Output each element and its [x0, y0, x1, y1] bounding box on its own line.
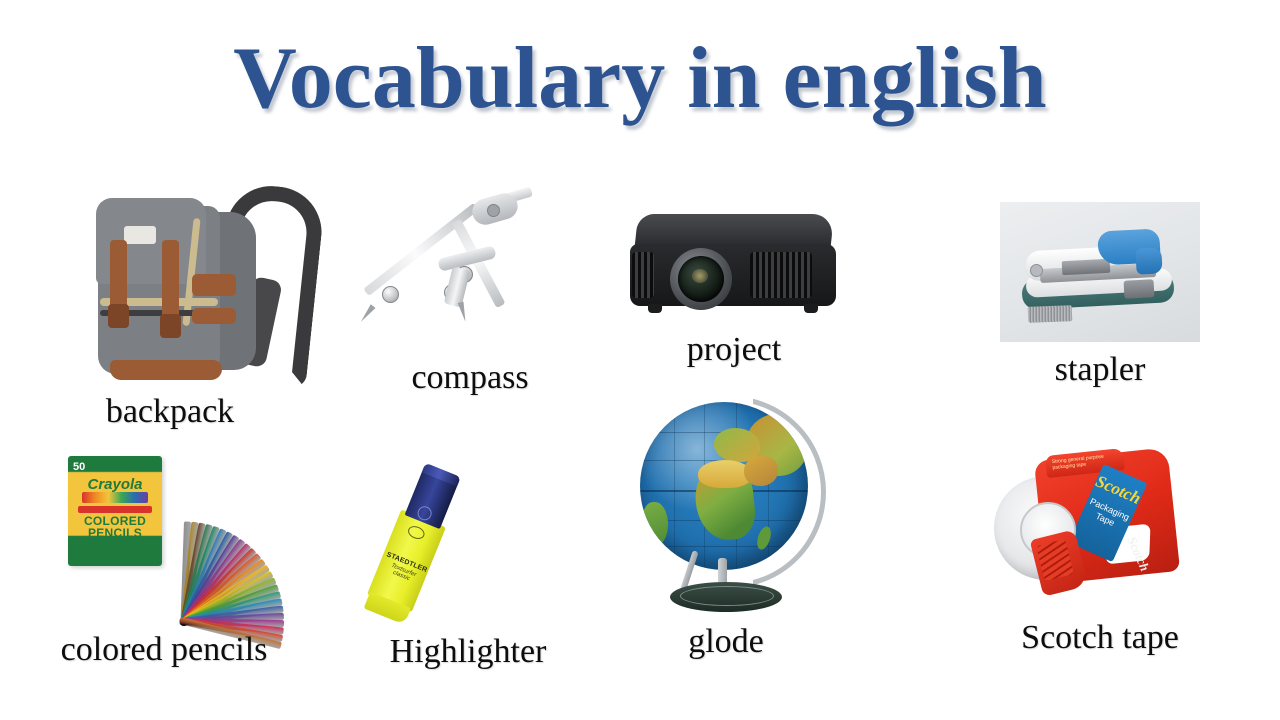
vocab-card-highlighter[interactable]: STAEDTLER Textsurfer classic Highlighter: [378, 462, 578, 682]
stapler-icon: [1000, 202, 1200, 342]
vocab-card-colored-pencils[interactable]: 50 Crayola COLORED PENCILS 50 colored pe…: [62, 452, 312, 682]
pencil-box: 50 Crayola COLORED PENCILS 50: [68, 456, 162, 566]
vocab-card-globe[interactable]: glode: [626, 400, 846, 680]
vocab-card-stapler[interactable]: stapler: [1000, 202, 1210, 397]
projector-icon: [622, 214, 847, 326]
tape-dispenser-icon: Strong general purpose packaging tape Sc…: [988, 442, 1193, 607]
highlighter-icon: STAEDTLER Textsurfer classic: [378, 462, 508, 622]
vocab-label-stapler: stapler: [1010, 350, 1190, 390]
vocab-label-scotch-tape: Scotch tape: [990, 618, 1210, 658]
colored-pencils-icon: 50 Crayola COLORED PENCILS 50: [62, 452, 292, 637]
globe-icon: [626, 400, 826, 615]
vocabulary-poster: Vocabulary in english backpack: [0, 0, 1280, 720]
vocab-label-backpack: backpack: [70, 392, 270, 432]
vocab-label-globe: glode: [636, 622, 816, 662]
compass-icon: [360, 190, 530, 340]
vocab-card-project[interactable]: project: [622, 214, 852, 389]
vocab-label-project: project: [644, 330, 824, 370]
vocab-card-backpack[interactable]: backpack: [88, 178, 328, 433]
vocab-card-compass[interactable]: compass: [360, 190, 570, 400]
vocab-label-colored-pencils: colored pencils: [14, 630, 314, 670]
page-title: Vocabulary in english: [0, 24, 1280, 134]
vocab-card-scotch-tape[interactable]: Strong general purpose packaging tape Sc…: [988, 442, 1218, 672]
vocab-label-highlighter: Highlighter: [328, 632, 608, 672]
backpack-icon: [88, 178, 303, 383]
vocab-label-compass: compass: [380, 358, 560, 398]
